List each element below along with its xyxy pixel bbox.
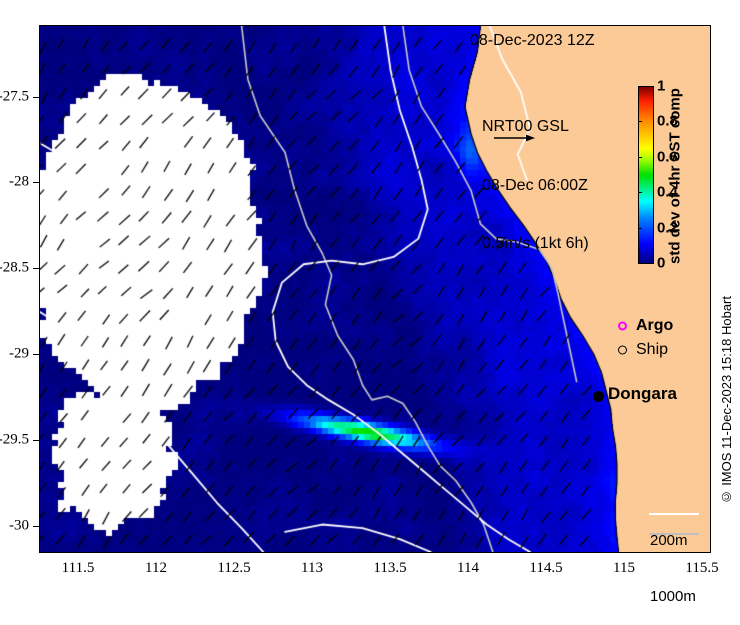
ship-marker-icon <box>618 346 627 355</box>
colorbar-tick-label: 1 <box>657 78 665 95</box>
current-vector-annotation: NRT00 GSL 08-Dec 06:00Z 0.5m/s (1kt 6h) <box>482 78 589 273</box>
legend-item-argo[interactable]: Argo <box>618 317 698 335</box>
colorbar-tick <box>638 192 642 193</box>
depth-line-200m-swatch <box>649 513 699 515</box>
colorbar-title: std dev of 4hr SST comp <box>666 90 684 262</box>
vector-scale-label: 0.5m/s (1kt 6h) <box>482 234 589 254</box>
depth-line-1000m-swatch <box>649 533 699 535</box>
x-tick-label: 113 <box>301 560 323 577</box>
x-tick-label: 111.5 <box>62 560 95 577</box>
map-date-title: 08-Dec-2023 12Z <box>470 31 595 51</box>
y-tick-label: -28 <box>9 174 29 191</box>
reference-arrow-icon <box>493 132 535 144</box>
legend-item-ship[interactable]: Ship <box>618 341 698 359</box>
city-label-dongara: Dongara <box>608 384 677 404</box>
colorbar-gradient <box>638 86 654 264</box>
city-marker-dongara-icon <box>593 391 604 402</box>
x-tick-label: 113.5 <box>373 560 406 577</box>
colorbar-tick <box>638 263 642 264</box>
depth-label-1000m: 1000m <box>650 588 696 607</box>
vector-time-label: 08-Dec 06:00Z <box>482 176 589 196</box>
sst-map-plot[interactable] <box>39 25 711 553</box>
x-tick-label: 112.5 <box>217 560 250 577</box>
colorbar-tick <box>638 228 642 229</box>
x-tick-label: 115 <box>613 560 635 577</box>
y-tick-label: -28.5 <box>0 260 29 277</box>
y-tick-label: -29.5 <box>0 432 29 449</box>
colorbar[interactable] <box>638 86 654 264</box>
colorbar-tick <box>638 157 642 158</box>
credit-text: © IMOS 11-Dec-2023 15:18 Hobart <box>719 296 734 504</box>
x-tick-label: 114.5 <box>529 560 562 577</box>
x-tick-label: 112 <box>145 560 167 577</box>
sst-heatmap-canvas[interactable] <box>40 26 710 552</box>
legend-label-ship: Ship <box>636 341 668 359</box>
argo-marker-icon <box>618 322 627 331</box>
x-tick-label: 114 <box>457 560 479 577</box>
colorbar-tick <box>638 121 642 122</box>
y-tick-label: -27.5 <box>0 89 29 106</box>
colorbar-tick-label: 0 <box>657 255 665 272</box>
legend-label-argo: Argo <box>636 317 673 335</box>
y-tick-label: -30 <box>9 518 29 535</box>
y-tick-label: -29 <box>9 346 29 363</box>
colorbar-tick <box>638 86 642 87</box>
